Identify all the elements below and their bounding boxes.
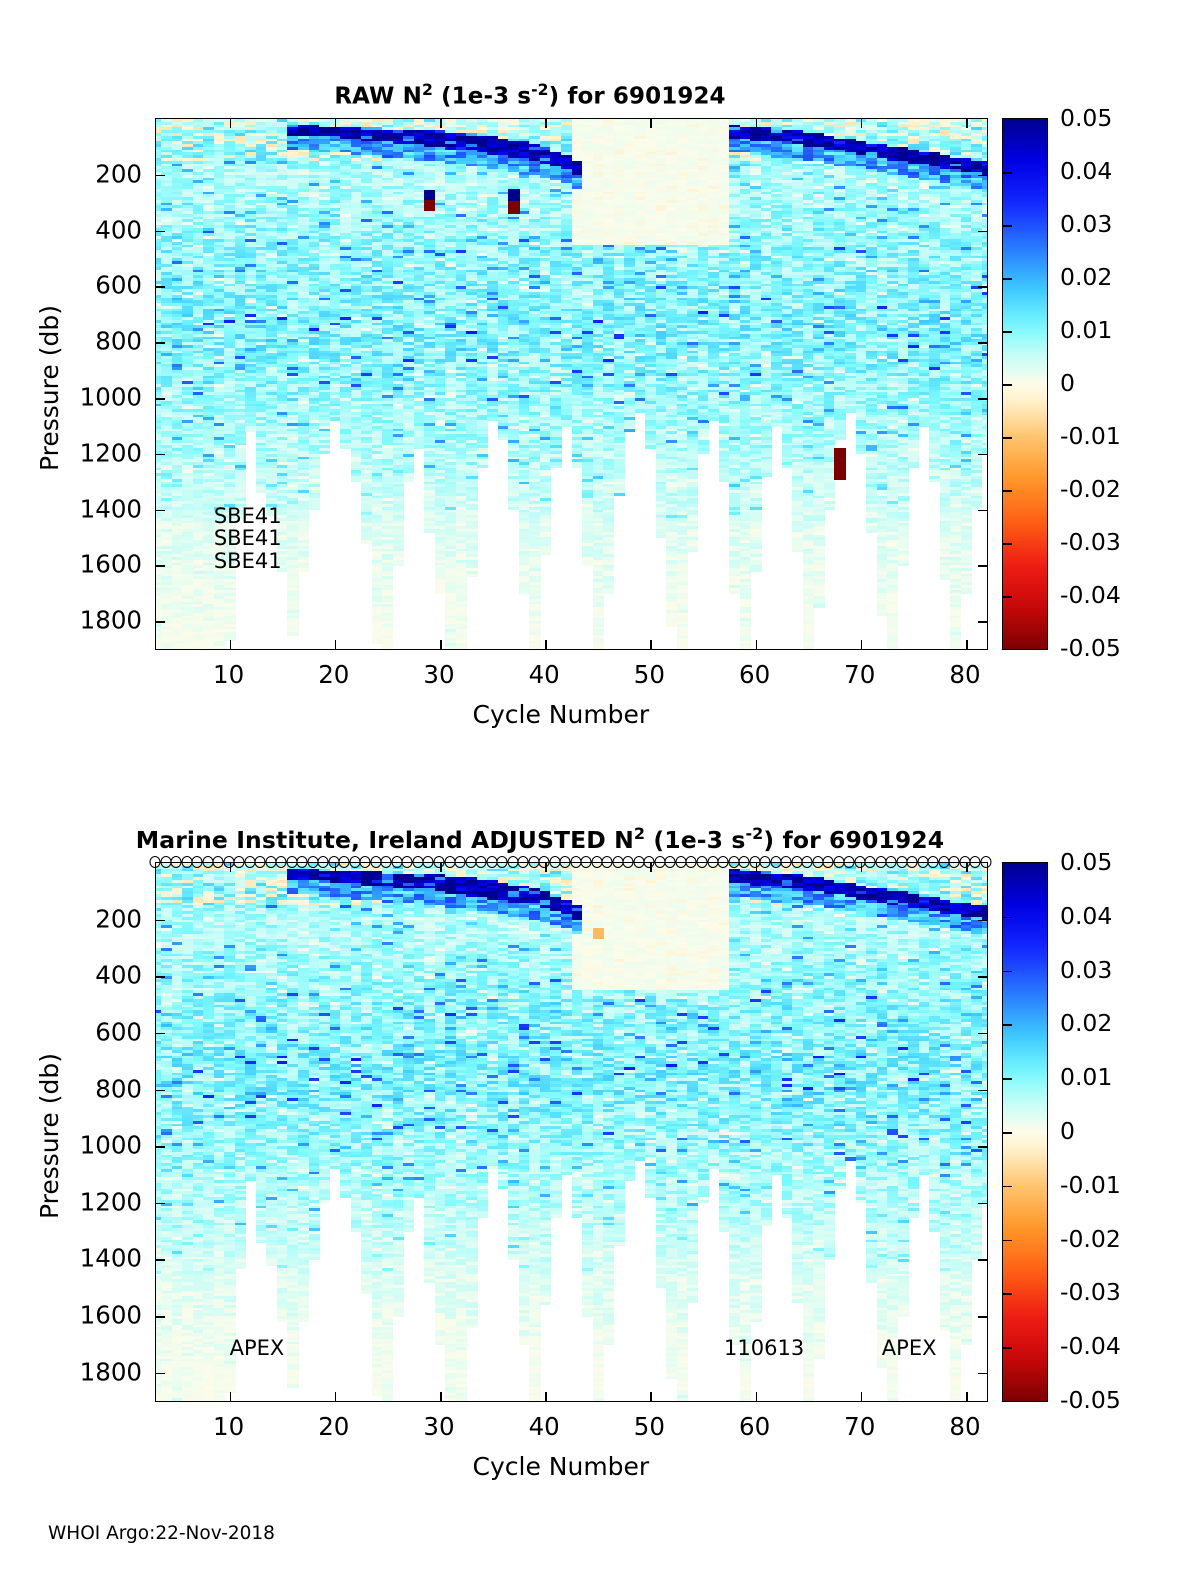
spike-cell: [508, 201, 519, 214]
y-tick-mark: [156, 175, 165, 177]
y-tick-mark: [978, 920, 987, 922]
colorbar-tick-label: -0.04: [1060, 1332, 1121, 1360]
x-tick-mark: [861, 119, 863, 128]
y-tick-mark: [978, 454, 987, 456]
y-tick-label: 400: [50, 961, 142, 990]
colorbar-tick-mark: [1003, 1293, 1012, 1295]
x-tick-label: 50: [634, 660, 665, 689]
colorbar-tick-mark: [1003, 1024, 1012, 1026]
y-tick-mark: [978, 1146, 987, 1148]
colorbar-tick-label: 0.04: [1060, 902, 1112, 930]
heatmap-raw[interactable]: SBE41SBE41SBE41: [155, 118, 988, 650]
y-tick-mark: [156, 565, 165, 567]
heatmap-grid: [156, 863, 987, 1401]
colorbar-tick-mark: [1003, 1347, 1012, 1349]
colorbar-tick-label: -0.03: [1060, 1278, 1121, 1306]
y-tick-mark: [156, 454, 165, 456]
x-tick-mark: [230, 1392, 232, 1401]
heatmap-adjusted[interactable]: APEX110613APEX: [155, 862, 988, 1402]
y-tick-mark: [156, 1090, 165, 1092]
x-tick-label: 20: [318, 1412, 349, 1441]
x-tick-mark: [966, 1392, 968, 1401]
x-tick-mark: [756, 863, 758, 872]
y-tick-mark: [156, 1259, 165, 1261]
y-tick-mark: [978, 286, 987, 288]
spike-cell: [593, 928, 604, 939]
y-tick-mark: [978, 1259, 987, 1261]
y-tick-mark: [156, 976, 165, 978]
y-tick-mark: [156, 1146, 165, 1148]
y-tick-mark: [978, 510, 987, 512]
y-tick-mark: [978, 231, 987, 233]
y-tick-mark: [156, 510, 165, 512]
x-tick-label: 20: [318, 660, 349, 689]
colorbar-tick-label: -0.01: [1060, 422, 1121, 450]
plot-annotation: SBE41: [214, 549, 282, 573]
x-tick-mark: [650, 640, 652, 649]
colorbar-tick-label: 0.02: [1060, 263, 1112, 291]
y-tick-mark: [978, 398, 987, 400]
y-tick-mark: [978, 1316, 987, 1318]
plot-annotation: APEX: [882, 1336, 937, 1360]
colorbar-tick-label: 0.01: [1060, 316, 1112, 344]
colorbar-tick-mark: [1003, 1078, 1012, 1080]
colorbar-tick-label: 0.01: [1060, 1063, 1112, 1091]
x-tick-mark: [335, 863, 337, 872]
colorbar-tick-mark: [1003, 1132, 1012, 1134]
x-tick-mark: [756, 119, 758, 128]
colorbar-tick-label: -0.05: [1060, 1386, 1121, 1414]
x-tick-mark: [545, 863, 547, 872]
colorbar-tick-label: 0.02: [1060, 1009, 1112, 1037]
y-tick-label: 1400: [50, 1244, 142, 1273]
colorbar-tick-label: -0.04: [1060, 581, 1121, 609]
y-tick-mark: [978, 565, 987, 567]
colorbar-tick-mark: [1003, 596, 1012, 598]
y-tick-label: 1400: [50, 494, 142, 523]
panel-adjusted-title: Marine Institute, Ireland ADJUSTED N2 (1…: [0, 824, 1080, 854]
x-tick-mark: [335, 640, 337, 649]
x-tick-label: 30: [423, 660, 454, 689]
x-tick-mark: [650, 1392, 652, 1401]
colorbar-tick-label: 0.04: [1060, 157, 1112, 185]
colorbar-tick-label: 0: [1060, 1117, 1075, 1145]
colorbar-tick-mark: [1003, 437, 1012, 439]
x-tick-mark: [545, 1392, 547, 1401]
y-tick-mark: [156, 286, 165, 288]
x-tick-label: 40: [529, 1412, 560, 1441]
colorbar-tick-label: 0: [1060, 369, 1075, 397]
x-tick-label: 70: [844, 1412, 875, 1441]
x-tick-mark: [230, 640, 232, 649]
x-tick-mark: [966, 640, 968, 649]
x-tick-mark: [545, 640, 547, 649]
y-tick-mark: [978, 976, 987, 978]
y-tick-mark: [978, 342, 987, 344]
x-tick-mark: [861, 863, 863, 872]
spike-cell: [508, 189, 519, 202]
y-tick-label: 1800: [50, 1357, 142, 1386]
plot-annotation: APEX: [230, 1336, 285, 1360]
y-tick-label: 200: [50, 904, 142, 933]
colorbar-tick-label: -0.02: [1060, 1225, 1121, 1253]
plot-annotation: SBE41: [214, 504, 282, 528]
colorbar-tick-mark: [1003, 278, 1012, 280]
y-axis-title: Pressure (db): [35, 1053, 64, 1219]
plot-annotation: SBE41: [214, 526, 282, 550]
y-tick-mark: [156, 920, 165, 922]
x-tick-mark: [335, 1392, 337, 1401]
y-tick-label: 600: [50, 1017, 142, 1046]
colorbar-tick-label: -0.03: [1060, 528, 1121, 556]
colorbar-tick-label: 0.03: [1060, 956, 1112, 984]
y-tick-label: 1600: [50, 1301, 142, 1330]
y-tick-mark: [156, 231, 165, 233]
y-tick-label: 1800: [50, 606, 142, 635]
y-tick-mark: [156, 621, 165, 623]
colorbar-tick-label: -0.02: [1060, 475, 1121, 503]
x-tick-mark: [756, 640, 758, 649]
x-tick-mark: [440, 863, 442, 872]
colorbar-raw: [1002, 118, 1048, 650]
x-tick-mark: [440, 640, 442, 649]
colorbar-tick-mark: [1003, 331, 1012, 333]
x-tick-mark: [650, 863, 652, 872]
y-tick-mark: [156, 1203, 165, 1205]
x-tick-label: 30: [423, 1412, 454, 1441]
colorbar-tick-mark: [1003, 1186, 1012, 1188]
y-tick-label: 1600: [50, 550, 142, 579]
panel-raw-title: RAW N2 (1e-3 s-2) for 6901924: [0, 80, 1060, 110]
y-tick-label: 200: [50, 159, 142, 188]
x-tick-label: 80: [949, 1412, 980, 1441]
y-tick-label: 400: [50, 215, 142, 244]
colorbar-tick-mark: [1003, 917, 1012, 919]
y-tick-mark: [978, 1033, 987, 1035]
x-tick-mark: [230, 863, 232, 872]
panel-raw: RAW N2 (1e-3 s-2) for 6901924 SBE41SBE41…: [0, 0, 1200, 760]
colorbar-tick-mark: [1003, 225, 1012, 227]
x-tick-mark: [545, 119, 547, 128]
x-tick-mark: [440, 1392, 442, 1401]
y-tick-mark: [156, 1373, 165, 1375]
x-tick-label: 50: [634, 1412, 665, 1441]
colorbar-tick-mark: [1003, 172, 1012, 174]
x-tick-label: 60: [739, 660, 770, 689]
x-axis-title: Cycle Number: [473, 1452, 650, 1481]
x-tick-mark: [335, 119, 337, 128]
x-tick-label: 10: [213, 660, 244, 689]
y-tick-mark: [156, 398, 165, 400]
spike-cell: [424, 190, 435, 200]
colorbar-tick-label: 0.05: [1060, 848, 1112, 876]
colorbar-tick-mark: [1003, 971, 1012, 973]
plot-annotation: 110613: [724, 1336, 804, 1360]
y-tick-mark: [978, 1203, 987, 1205]
x-tick-label: 80: [949, 660, 980, 689]
spike-cell: [834, 448, 845, 480]
spike-cell: [424, 200, 435, 211]
y-tick-mark: [978, 175, 987, 177]
y-tick-mark: [978, 1373, 987, 1375]
y-tick-mark: [156, 1316, 165, 1318]
colorbar-tick-label: -0.01: [1060, 1171, 1121, 1199]
y-axis-title: Pressure (db): [35, 305, 64, 471]
x-tick-label: 40: [529, 660, 560, 689]
colorbar-tick-mark: [1003, 384, 1012, 386]
x-tick-mark: [756, 1392, 758, 1401]
colorbar-tick-mark: [1003, 543, 1012, 545]
x-tick-mark: [650, 119, 652, 128]
footer-credit: WHOI Argo:22-Nov-2018: [48, 1523, 275, 1544]
x-axis-title: Cycle Number: [473, 700, 650, 729]
x-tick-mark: [861, 1392, 863, 1401]
y-tick-label: 600: [50, 271, 142, 300]
colorbar-tick-label: -0.05: [1060, 634, 1121, 662]
x-tick-label: 60: [739, 1412, 770, 1441]
colorbar-adjusted: [1002, 862, 1048, 1402]
y-tick-mark: [978, 621, 987, 623]
y-tick-mark: [156, 342, 165, 344]
colorbar-tick-label: 0.03: [1060, 210, 1112, 238]
x-tick-mark: [440, 119, 442, 128]
x-tick-label: 70: [844, 660, 875, 689]
y-tick-mark: [156, 1033, 165, 1035]
y-tick-mark: [978, 1090, 987, 1092]
colorbar-tick-mark: [1003, 490, 1012, 492]
x-tick-mark: [230, 119, 232, 128]
x-tick-mark: [966, 119, 968, 128]
colorbar-tick-mark: [1003, 1240, 1012, 1242]
x-tick-mark: [966, 863, 968, 872]
x-tick-mark: [861, 640, 863, 649]
x-tick-label: 10: [213, 1412, 244, 1441]
colorbar-tick-label: 0.05: [1060, 104, 1112, 132]
